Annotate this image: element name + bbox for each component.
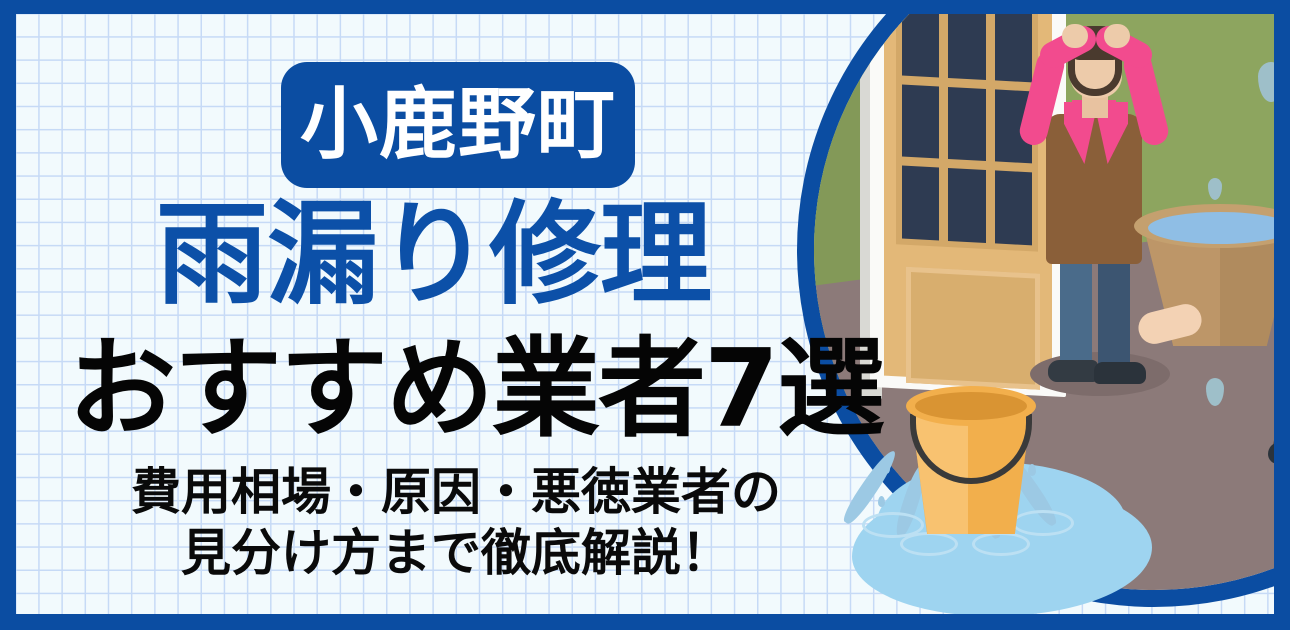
shoe-left <box>1048 360 1098 382</box>
door-pane <box>902 84 939 159</box>
subtitle-block: 費用相場・原因・悪徳業者の 見分け方まで徹底解説！ <box>56 462 856 584</box>
grid-paper-background: 小鹿野町 雨漏り修理 おすすめ業者7選 費用相場・原因・悪徳業者の 見分け方まで… <box>16 14 1274 614</box>
region-badge-label: 小鹿野町 <box>300 86 616 164</box>
man-carrying-bucket <box>1234 180 1274 510</box>
door-pane <box>902 14 939 77</box>
brown-vest <box>1046 114 1142 264</box>
door-glass-panes <box>902 14 1032 245</box>
subtitle-line-2: 見分け方まで徹底解説！ <box>56 523 856 584</box>
door-pane <box>902 166 939 241</box>
hand-right <box>1104 24 1130 48</box>
banner-root: 小鹿野町 雨漏り修理 おすすめ業者7選 費用相場・原因・悪徳業者の 見分け方まで… <box>0 0 1290 630</box>
water-droplet <box>878 496 885 507</box>
headline-line-2: おすすめ業者7選 <box>68 336 868 444</box>
door-pane <box>948 168 985 243</box>
door-pane <box>948 86 985 161</box>
bucket-rim-inner <box>915 392 1027 420</box>
subtitle-line-1: 費用相場・原因・悪徳業者の <box>56 462 856 523</box>
region-badge: 小鹿野町 <box>281 62 635 188</box>
shoe-left <box>1268 442 1274 464</box>
leaking-orange-bucket <box>906 386 1036 544</box>
water-droplet <box>882 462 890 474</box>
shoe-right <box>1094 362 1146 384</box>
headline-line-1: 雨漏り修理 <box>156 199 796 311</box>
hand-left <box>1062 24 1088 48</box>
door-pane <box>948 14 985 79</box>
